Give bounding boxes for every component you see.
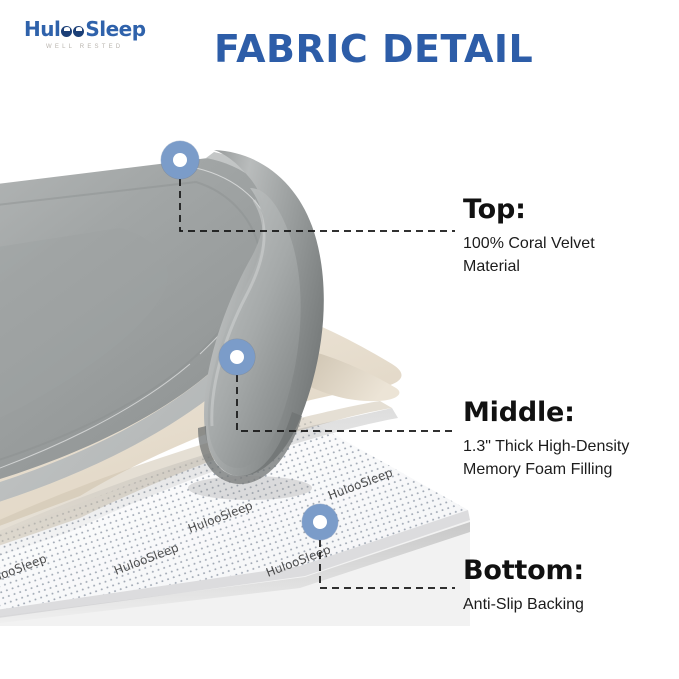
callout-marker-middle[interactable] bbox=[219, 339, 255, 375]
callout-top: Top: 100% Coral Velvet Material bbox=[463, 195, 595, 278]
brand-logo: Hul Sleep WELL RESTED bbox=[24, 18, 164, 60]
page-title: FABRIC DETAIL bbox=[214, 27, 533, 71]
brand-logo-wordmark: Hul Sleep bbox=[24, 18, 164, 40]
callout-middle-heading: Middle: bbox=[463, 398, 629, 428]
brand-logo-text-right: Sleep bbox=[85, 18, 145, 40]
callout-marker-top[interactable] bbox=[161, 141, 199, 179]
callout-top-heading: Top: bbox=[463, 195, 595, 225]
callout-marker-bottom[interactable] bbox=[302, 504, 338, 540]
eye-right-icon bbox=[73, 26, 84, 37]
callout-top-line-2: Material bbox=[463, 255, 595, 278]
marker-dot-bottom bbox=[313, 515, 327, 529]
marker-dot-middle bbox=[230, 350, 244, 364]
callout-bottom-heading: Bottom: bbox=[463, 556, 584, 586]
infographic-canvas: Hul Sleep WELL RESTED FABRIC DETAIL bbox=[0, 0, 679, 679]
callout-bottom-body: Anti-Slip Backing bbox=[463, 593, 584, 616]
callout-top-line-1: 100% Coral Velvet bbox=[463, 232, 595, 255]
callout-middle: Middle: 1.3" Thick High-Density Memory F… bbox=[463, 398, 629, 481]
sleepy-eyes-icon bbox=[61, 26, 84, 37]
callout-middle-line-2: Memory Foam Filling bbox=[463, 458, 629, 481]
marker-dot-top bbox=[173, 153, 187, 167]
callout-middle-body: 1.3" Thick High-Density Memory Foam Fill… bbox=[463, 435, 629, 481]
callout-bottom-line-1: Anti-Slip Backing bbox=[463, 593, 584, 616]
callout-top-body: 100% Coral Velvet Material bbox=[463, 232, 595, 278]
callout-bottom: Bottom: Anti-Slip Backing bbox=[463, 556, 584, 616]
brand-logo-text-left: Hul bbox=[24, 18, 60, 40]
callout-middle-line-1: 1.3" Thick High-Density bbox=[463, 435, 629, 458]
eye-left-icon bbox=[61, 26, 72, 37]
brand-tagline: WELL RESTED bbox=[24, 44, 164, 50]
